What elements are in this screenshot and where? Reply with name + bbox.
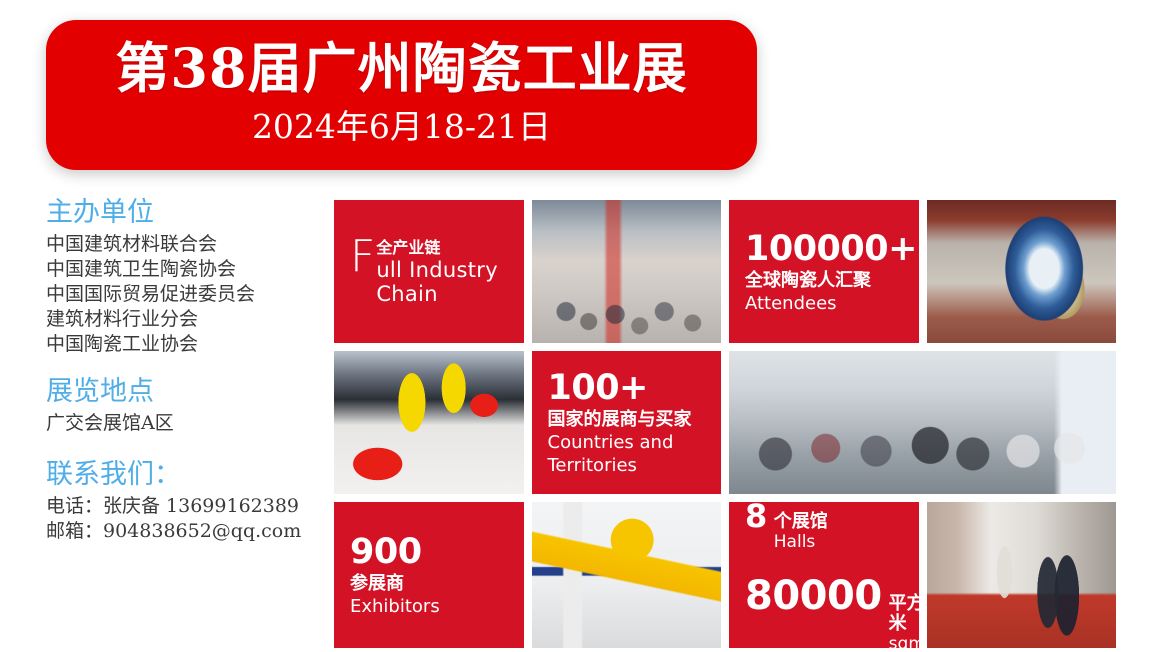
- area-en-label: sqm: [889, 634, 919, 648]
- organizer-item: 中国陶瓷工业协会: [46, 332, 316, 357]
- full-industry-chain-card: F 全产业链 ull Industry Chain: [334, 200, 524, 343]
- organizer-item: 中国建筑卫生陶瓷协会: [46, 257, 316, 282]
- exhibitors-cn-label: 参展商: [350, 572, 508, 595]
- visitors-viewing-tile-panels-photo: [927, 502, 1117, 648]
- venue-name: 广交会展馆A区: [46, 411, 316, 436]
- event-dates: 2024年6月18-21日: [46, 104, 757, 150]
- full-chain-initial: F: [350, 237, 375, 277]
- blue-marble-slab-display-photo: [927, 200, 1117, 343]
- halls-and-area-card: 8 个展馆 Halls 80000 平方米 sqm: [729, 502, 919, 648]
- organizer-item: 中国建筑材料联合会: [46, 232, 316, 257]
- countries-en-label-line2: Territories: [548, 454, 706, 477]
- organizers-block: 主办单位 中国建筑材料联合会 中国建筑卫生陶瓷协会 中国国际贸易促进委员会 建筑…: [46, 196, 316, 357]
- attendees-card: 100000+ 全球陶瓷人汇聚 Attendees: [729, 200, 919, 343]
- organizer-item: 建筑材料行业分会: [46, 307, 316, 332]
- exhibitors-card: 900 参展商 Exhibitors: [334, 502, 524, 648]
- yellow-industrial-robot-arm-photo: [532, 502, 722, 648]
- page-title: 第38届广州陶瓷工业展: [46, 36, 757, 100]
- contact-email: 邮箱：904838652@qq.com: [46, 519, 316, 544]
- halls-en-label: Halls: [774, 532, 828, 552]
- event-header-banner: 第38届广州陶瓷工业展 2024年6月18-21日: [46, 20, 757, 170]
- attendees-en-label: Attendees: [745, 292, 903, 315]
- halls-number: 8: [745, 502, 767, 536]
- attendees-cn-label: 全球陶瓷人汇聚: [745, 269, 903, 292]
- organizers-heading: 主办单位: [46, 196, 316, 230]
- info-column: 主办单位 中国建筑材料联合会 中国建筑卫生陶瓷协会 中国国际贸易促进委员会 建筑…: [46, 196, 316, 562]
- area-stat: 80000 平方米 sqm: [745, 574, 903, 648]
- countries-en-label-line1: Countries and: [548, 431, 706, 454]
- contact-heading: 联系我们：: [46, 458, 316, 492]
- contact-phone: 电话：张庆备 13699162389: [46, 494, 316, 519]
- exhibitors-en-label: Exhibitors: [350, 595, 508, 618]
- area-number: 80000: [745, 574, 882, 618]
- contact-block: 联系我们： 电话：张庆备 13699162389 邮箱：904838652@qq…: [46, 458, 316, 544]
- area-cn-label: 平方米: [889, 594, 919, 634]
- full-chain-cn-label: 全产业链: [376, 239, 507, 257]
- countries-card: 100+ 国家的展商与买家 Countries and Territories: [532, 351, 722, 494]
- venue-heading: 展览地点: [46, 375, 316, 409]
- exhibitors-number: 900: [350, 532, 508, 572]
- halls-cn-label: 个展馆: [774, 512, 828, 532]
- venue-block: 展览地点 广交会展馆A区: [46, 375, 316, 436]
- organizer-item: 中国国际贸易促进委员会: [46, 282, 316, 307]
- exhibition-hall-crowd-photo: [532, 200, 722, 343]
- full-chain-en-label: ull Industry Chain: [376, 258, 507, 306]
- yellow-sanitaryware-display-photo: [334, 351, 524, 494]
- stats-photo-grid: F 全产业链 ull Industry Chain 100000+ 全球陶瓷人汇…: [334, 200, 1116, 648]
- halls-stat: 8 个展馆 Halls: [745, 502, 903, 552]
- attendees-number: 100000+: [745, 229, 903, 269]
- visitors-walking-aisle-photo: [729, 351, 1116, 494]
- countries-cn-label: 国家的展商与买家: [548, 408, 706, 431]
- countries-number: 100+: [548, 368, 706, 408]
